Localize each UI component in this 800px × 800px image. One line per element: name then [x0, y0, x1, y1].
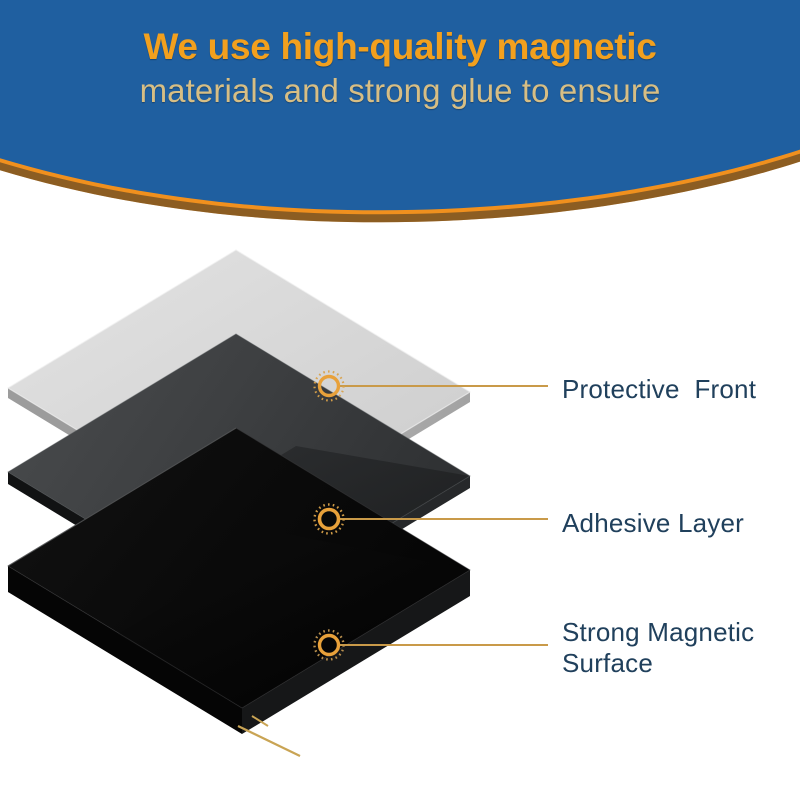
- layer-label-protective-front: Protective Front: [562, 374, 756, 405]
- layer-stack-diagram: Protective Front Adhesive Layer Strong M…: [0, 0, 800, 800]
- infographic-page: We use high-quality magnetic materials a…: [0, 0, 800, 800]
- gold-whisker-line: [238, 726, 300, 756]
- layer-label-adhesive: Adhesive Layer: [562, 508, 744, 539]
- layer-label-magnetic-surface: Strong Magnetic Surface: [562, 617, 754, 678]
